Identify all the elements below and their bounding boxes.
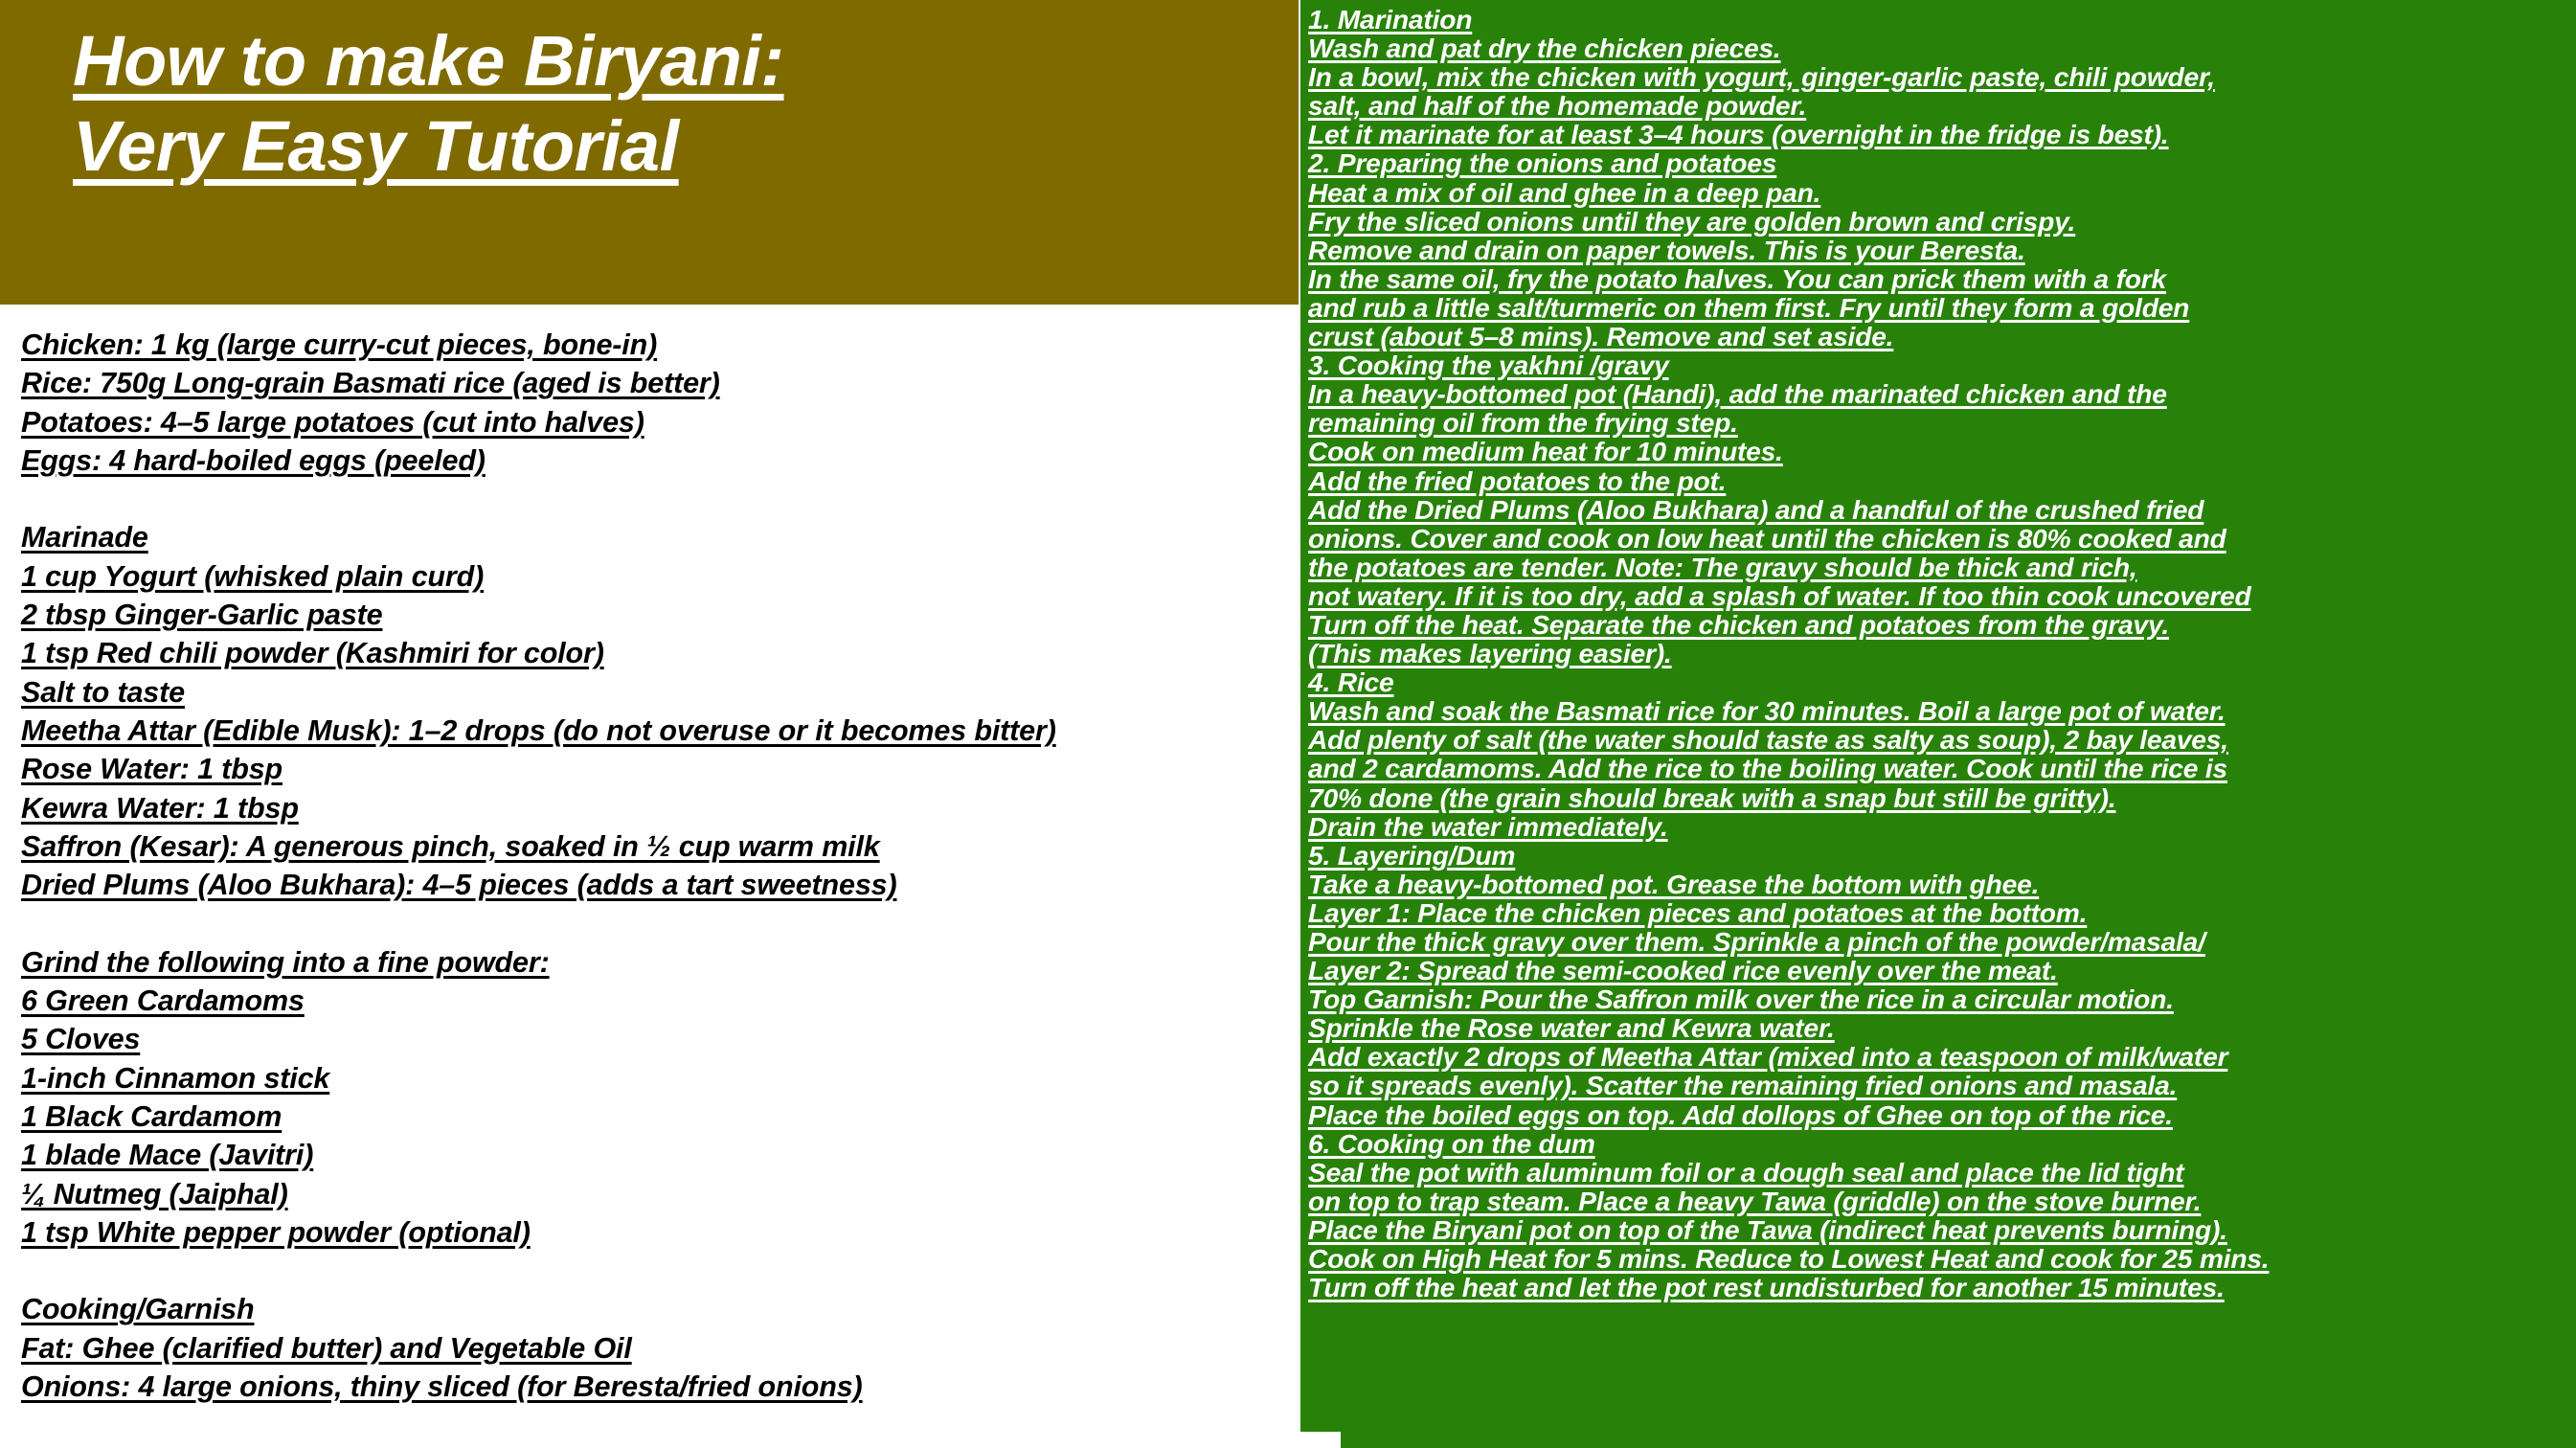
- step-line: crust (about 5–8 mins). Remove and set a…: [1308, 322, 2576, 351]
- step-line: (This makes layering easier).: [1308, 639, 2576, 667]
- ingredients-list: Chicken: 1 kg (large curry-cut pieces, b…: [0, 305, 1299, 1406]
- step-line: In the same oil, fry the potato halves. …: [1308, 264, 2576, 293]
- ingredient-line: 6 Green Cardamoms: [21, 982, 1299, 1020]
- step-line-text: 5. Layering/Dum: [1308, 840, 1515, 871]
- step-line: Fry the sliced onions until they are gol…: [1308, 207, 2576, 236]
- step-line: Let it marinate for at least 3–4 hours (…: [1308, 120, 2576, 148]
- step-line: and rub a little salt/turmeric on them f…: [1308, 293, 2576, 322]
- step-line-text: In the same oil, fry the potato halves. …: [1308, 263, 2166, 294]
- ingredient-line-text: 1 tsp White pepper powder (optional): [21, 1216, 531, 1249]
- step-line: Sprinkle the Rose water and Kewra water.: [1308, 1013, 2576, 1042]
- step-line: on top to trap steam. Place a heavy Tawa…: [1308, 1187, 2576, 1215]
- ingredient-line-text: Meetha Attar (Edible Musk): 1–2 drops (d…: [21, 714, 1056, 747]
- ingredient-line-text: Rice: 750g Long-grain Basmati rice (aged…: [21, 367, 720, 399]
- step-line-text: on top to trap steam. Place a heavy Tawa…: [1308, 1186, 2201, 1216]
- step-line-text: 3. Cooking the yakhni /gravy: [1308, 350, 1669, 380]
- step-line-text: salt, and half of the homemade powder.: [1308, 90, 1806, 121]
- step-line: not watery. If it is too dry, add a spla…: [1308, 581, 2576, 610]
- ingredient-line: Chicken: 1 kg (large curry-cut pieces, b…: [21, 326, 1299, 364]
- step-line: salt, and half of the homemade powder.: [1308, 91, 2576, 120]
- step-line-text: Wash and pat dry the chicken pieces.: [1308, 33, 1781, 63]
- step-line: remaining oil from the frying step.: [1308, 408, 2576, 437]
- ingredient-line-text: 1-inch Cinnamon stick: [21, 1062, 329, 1095]
- step-line: Add the Dried Plums (Aloo Bukhara) and a…: [1308, 495, 2576, 524]
- step-line: Add plenty of salt (the water should tas…: [1308, 725, 2576, 754]
- step-line: the potatoes are tender. Note: The gravy…: [1308, 553, 2576, 581]
- step-line-text: Place the Biryani pot on top of the Tawa…: [1308, 1214, 2227, 1245]
- step-line: Remove and drain on paper towels. This i…: [1308, 236, 2576, 264]
- step-line: 70% done (the grain should break with a …: [1308, 783, 2576, 812]
- step-line-text: and rub a little salt/turmeric on them f…: [1308, 292, 2189, 323]
- ingredient-line-text: 1 Black Cardamom: [21, 1100, 282, 1133]
- ingredient-line-text: 1 tsp Red chili powder (Kashmiri for col…: [21, 637, 604, 669]
- ingredient-line-spacer: [21, 1252, 1299, 1290]
- step-line: 6. Cooking on the dum: [1308, 1129, 2576, 1158]
- panel-corner-notch: [1300, 1432, 1341, 1448]
- ingredient-line-text: 1 blade Mace (Javitri): [21, 1139, 313, 1171]
- ingredient-line: ¼ Nutmeg (Jaiphal): [21, 1175, 1299, 1213]
- step-line: Wash and soak the Basmati rice for 30 mi…: [1308, 696, 2576, 725]
- ingredient-line: Fat: Ghee (clarified butter) and Vegetab…: [21, 1329, 1299, 1368]
- step-line-text: Cook on High Heat for 5 mins. Reduce to …: [1308, 1243, 2269, 1274]
- ingredient-line-text: Salt to taste: [21, 676, 185, 709]
- ingredient-line: 1 blade Mace (Javitri): [21, 1136, 1299, 1174]
- step-line: Wash and pat dry the chicken pieces.: [1308, 34, 2576, 62]
- step-line-text: Layer 2: Spread the semi-cooked rice eve…: [1308, 955, 2058, 985]
- ingredient-line-text: Saffron (Kesar): A generous pinch, soake…: [21, 830, 880, 863]
- ingredient-line: Kewra Water: 1 tbsp: [21, 789, 1299, 827]
- step-line: so it spreads evenly). Scatter the remai…: [1308, 1071, 2576, 1099]
- ingredient-line: Eggs: 4 hard-boiled eggs (peeled): [21, 441, 1299, 480]
- step-line: 2. Preparing the onions and potatoes: [1308, 148, 2576, 177]
- ingredient-line: Saffron (Kesar): A generous pinch, soake…: [21, 827, 1299, 866]
- step-line-text: crust (about 5–8 mins). Remove and set a…: [1308, 321, 1893, 351]
- ingredient-line-text: Potatoes: 4–5 large potatoes (cut into h…: [21, 406, 644, 439]
- steps-panel: 1. MarinationWash and pat dry the chicke…: [1300, 0, 2576, 1448]
- step-line-text: 1. Marination: [1308, 4, 1472, 34]
- step-line-text: Cook on medium heat for 10 minutes.: [1308, 436, 1783, 466]
- step-line-text: the potatoes are tender. Note: The gravy…: [1308, 552, 2136, 582]
- ingredient-line: Potatoes: 4–5 large potatoes (cut into h…: [21, 403, 1299, 441]
- step-line-text: Wash and soak the Basmati rice for 30 mi…: [1308, 695, 2226, 726]
- ingredient-line: 5 Cloves: [21, 1020, 1299, 1058]
- ingredient-line-spacer: [21, 480, 1299, 518]
- ingredient-line: 2 tbsp Ginger-Garlic paste: [21, 596, 1299, 634]
- step-line: Seal the pot with aluminum foil or a dou…: [1308, 1158, 2576, 1187]
- step-line-text: Take a heavy-bottomed pot. Grease the bo…: [1308, 869, 2039, 899]
- ingredient-line: Dried Plums (Aloo Bukhara): 4–5 pieces (…: [21, 866, 1299, 904]
- recipe-page: How to make Biryani: Very Easy Tutorial …: [0, 0, 2576, 1448]
- step-line-text: Let it marinate for at least 3–4 hours (…: [1308, 119, 2169, 149]
- ingredient-line: 1-inch Cinnamon stick: [21, 1059, 1299, 1097]
- ingredient-line-text: Chicken: 1 kg (large curry-cut pieces, b…: [21, 328, 657, 361]
- step-line: Heat a mix of oil and ghee in a deep pan…: [1308, 178, 2576, 207]
- step-line: 1. Marination: [1308, 5, 2576, 34]
- step-line-text: Turn off the heat. Separate the chicken …: [1308, 609, 2169, 640]
- step-line-text: 70% done (the grain should break with a …: [1308, 782, 2116, 813]
- step-line-text: and 2 cardamoms. Add the rice to the boi…: [1308, 753, 2227, 783]
- step-line: Top Garnish: Pour the Saffron milk over …: [1308, 984, 2576, 1013]
- ingredient-line: 1 Black Cardamom: [21, 1097, 1299, 1136]
- step-line-text: so it spreads evenly). Scatter the remai…: [1308, 1070, 2177, 1100]
- step-line-text: In a heavy-bottomed pot (Handi), add the…: [1308, 378, 2167, 409]
- ingredient-line: 1 tsp White pepper powder (optional): [21, 1213, 1299, 1252]
- ingredient-line: Rose Water: 1 tbsp: [21, 750, 1299, 788]
- ingredient-line-text: 6 Green Cardamoms: [21, 984, 305, 1017]
- step-line-text: Seal the pot with aluminum foil or a dou…: [1308, 1157, 2184, 1188]
- ingredient-line-text: Dried Plums (Aloo Bukhara): 4–5 pieces (…: [21, 869, 896, 901]
- page-title-line-1: How to make Biryani:: [0, 25, 1299, 97]
- step-line-text: Pour the thick gravy over them. Sprinkle…: [1308, 926, 2205, 957]
- ingredient-line-spacer: [21, 904, 1299, 942]
- step-line: Add exactly 2 drops of Meetha Attar (mix…: [1308, 1042, 2576, 1071]
- step-line-text: Sprinkle the Rose water and Kewra water.: [1308, 1012, 1835, 1043]
- ingredient-line-text: ¼ Nutmeg (Jaiphal): [21, 1178, 288, 1210]
- step-line-text: Add the Dried Plums (Aloo Bukhara) and a…: [1308, 494, 2203, 525]
- step-line: 5. Layering/Dum: [1308, 841, 2576, 870]
- step-line: Take a heavy-bottomed pot. Grease the bo…: [1308, 870, 2576, 898]
- step-line: Add the fried potatoes to the pot.: [1308, 466, 2576, 495]
- step-line-text: In a bowl, mix the chicken with yogurt, …: [1308, 61, 2215, 92]
- step-line-text: remaining oil from the frying step.: [1308, 407, 1738, 438]
- step-line: In a bowl, mix the chicken with yogurt, …: [1308, 62, 2576, 91]
- step-line: Layer 2: Spread the semi-cooked rice eve…: [1308, 956, 2576, 984]
- step-line: Turn off the heat and let the pot rest u…: [1308, 1273, 2576, 1301]
- title-banner: How to make Biryani: Very Easy Tutorial: [0, 0, 1299, 305]
- step-line: In a heavy-bottomed pot (Handi), add the…: [1308, 379, 2576, 408]
- ingredient-line: Salt to taste: [21, 673, 1299, 712]
- ingredient-line: Grind the following into a fine powder:: [21, 943, 1299, 982]
- step-line-text: Layer 1: Place the chicken pieces and po…: [1308, 897, 2087, 928]
- step-line-text: Top Garnish: Pour the Saffron milk over …: [1308, 984, 2174, 1014]
- page-title-line-2: Very Easy Tutorial: [0, 110, 1299, 182]
- step-line-text: Add the fried potatoes to the pot.: [1308, 465, 1726, 496]
- ingredient-line: 1 cup Yogurt (whisked plain curd): [21, 557, 1299, 596]
- step-line: Place the boiled eggs on top. Add dollop…: [1308, 1100, 2576, 1129]
- step-line-text: Turn off the heat and let the pot rest u…: [1308, 1272, 2225, 1302]
- ingredient-line: Cooking/Garnish: [21, 1290, 1299, 1328]
- ingredient-line-text: Rose Water: 1 tbsp: [21, 753, 282, 785]
- step-line-text: 4. Rice: [1308, 667, 1393, 697]
- step-line: Pour the thick gravy over them. Sprinkle…: [1308, 927, 2576, 956]
- step-line-text: Remove and drain on paper towels. This i…: [1308, 235, 2025, 265]
- step-line-text: Heat a mix of oil and ghee in a deep pan…: [1308, 177, 1820, 208]
- ingredient-line-text: Marinade: [21, 521, 148, 554]
- step-line-text: 2. Preparing the onions and potatoes: [1308, 147, 1776, 178]
- ingredient-line-text: Grind the following into a fine powder:: [21, 946, 550, 979]
- step-line-text: 6. Cooking on the dum: [1308, 1128, 1595, 1159]
- step-line: Drain the water immediately.: [1308, 812, 2576, 841]
- ingredient-line: Rice: 750g Long-grain Basmati rice (aged…: [21, 364, 1299, 402]
- ingredient-line-text: Eggs: 4 hard-boiled eggs (peeled): [21, 444, 486, 477]
- ingredient-line-text: Cooking/Garnish: [21, 1293, 254, 1325]
- ingredient-line-text: Kewra Water: 1 tbsp: [21, 792, 299, 825]
- ingredient-line-text: 2 tbsp Ginger-Garlic paste: [21, 599, 382, 631]
- step-line-text: onions. Cover and cook on low heat until…: [1308, 523, 2226, 554]
- step-line: 4. Rice: [1308, 667, 2576, 696]
- step-line-text: not watery. If it is too dry, add a spla…: [1308, 580, 2250, 611]
- ingredient-line: Onions: 4 large onions, thiny sliced (fo…: [21, 1368, 1299, 1406]
- step-line: Turn off the heat. Separate the chicken …: [1308, 610, 2576, 639]
- left-column: How to make Biryani: Very Easy Tutorial …: [0, 0, 1299, 1448]
- ingredient-line: Meetha Attar (Edible Musk): 1–2 drops (d…: [21, 712, 1299, 750]
- step-line: onions. Cover and cook on low heat until…: [1308, 524, 2576, 553]
- ingredient-line: 1 tsp Red chili powder (Kashmiri for col…: [21, 634, 1299, 672]
- step-line-text: (This makes layering easier).: [1308, 638, 1672, 668]
- ingredient-line-text: 5 Cloves: [21, 1023, 140, 1055]
- step-line-text: Add plenty of salt (the water should tas…: [1308, 724, 2228, 755]
- step-line: 3. Cooking the yakhni /gravy: [1308, 351, 2576, 379]
- step-line-text: Fry the sliced onions until they are gol…: [1308, 206, 2075, 237]
- step-line: Layer 1: Place the chicken pieces and po…: [1308, 898, 2576, 927]
- step-line: Cook on High Heat for 5 mins. Reduce to …: [1308, 1244, 2576, 1273]
- step-line-text: Place the boiled eggs on top. Add dollop…: [1308, 1099, 2173, 1130]
- step-line-text: Add exactly 2 drops of Meetha Attar (mix…: [1308, 1041, 2227, 1072]
- step-line-text: Drain the water immediately.: [1308, 811, 1668, 842]
- step-line: Place the Biryani pot on top of the Tawa…: [1308, 1215, 2576, 1244]
- step-line: and 2 cardamoms. Add the rice to the boi…: [1308, 754, 2576, 782]
- ingredient-line: Marinade: [21, 518, 1299, 556]
- ingredient-line-text: Onions: 4 large onions, thiny sliced (fo…: [21, 1370, 863, 1403]
- steps-list: 1. MarinationWash and pat dry the chicke…: [1308, 5, 2576, 1301]
- step-line: Cook on medium heat for 10 minutes.: [1308, 437, 2576, 465]
- ingredient-line-text: Fat: Ghee (clarified butter) and Vegetab…: [21, 1332, 632, 1365]
- ingredient-line-text: 1 cup Yogurt (whisked plain curd): [21, 560, 484, 593]
